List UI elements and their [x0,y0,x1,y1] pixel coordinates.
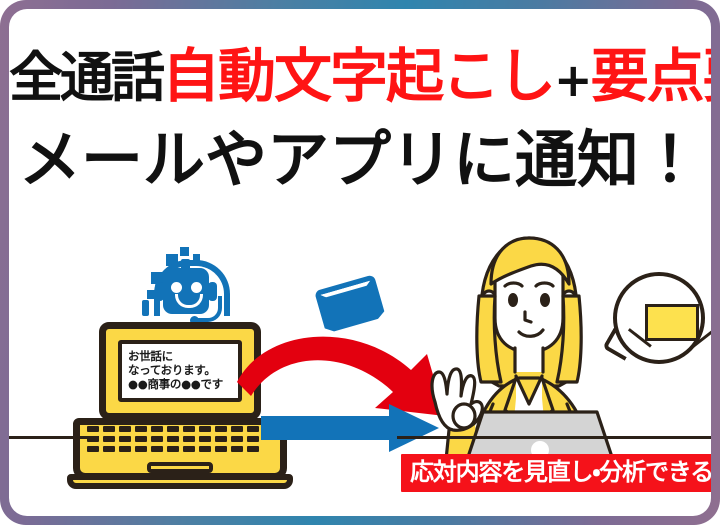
key [199,426,211,432]
neck [515,346,543,372]
headline-black-prefix: 全通話 [9,46,162,109]
key-row [87,446,273,452]
key [119,426,131,432]
key [87,446,99,452]
key [151,446,163,452]
key [87,426,99,432]
key [135,426,147,432]
key-row [87,436,273,442]
blue-arrow-shape [261,404,439,452]
key [119,436,131,442]
envelope-flap-right [675,306,711,348]
laptop-screen-transcript-text: お世話に なっております。 ●●商事の●●です [128,349,238,391]
key [119,446,131,452]
laptop-keys [87,426,273,458]
headline-red-tail: 要点要約機能 [591,42,711,110]
banner-canvas: 全通話自動文字起こし+要点要約機能 メールやアプリに通知！ [9,9,711,516]
ai-chatbot-robot-icon [133,242,229,330]
key [103,446,115,452]
key [183,426,195,432]
robot-eye-left [171,282,182,293]
key [135,446,147,452]
key [215,426,227,432]
key [247,436,259,442]
laptop-screen: お世話に なっております。 ●●商事の●●です [118,340,242,402]
envelope-flap-left [628,306,669,348]
illustration-area: お世話に なっております。 ●●商事の●●です [9,214,711,516]
eye-right [540,293,550,307]
key [167,446,179,452]
key [103,426,115,432]
key [231,436,243,442]
headline-line-2: メールやアプリに通知！ [9,129,711,191]
yellow-envelope-icon [645,304,699,341]
key [215,446,227,452]
key [183,446,195,452]
status-banner: 応対内容を見直し・分析できる！ [401,454,711,492]
desk-line-left [9,436,99,439]
key [167,426,179,432]
headset-mic-boom [196,296,222,322]
blue-right-arrow-icon [261,404,439,452]
key [247,446,259,452]
desk-line-right [397,436,711,439]
key [151,436,163,442]
key [231,446,243,452]
key [135,436,147,442]
eye-left [508,293,518,307]
key [199,446,211,452]
key [103,436,115,442]
speech-bubble-body [613,272,705,364]
key [215,436,227,442]
headline-red-main: 自動文字起こし [162,42,554,110]
robot-eye-right [191,282,202,293]
status-banner-text: 応対内容を見直し・分析できる！ [410,460,711,484]
envelope-flap-right [350,283,395,328]
headline-plus-sign: + [554,53,591,107]
speech-bubble-mail-notification [605,272,709,372]
pixel-dot [142,300,149,316]
key [167,436,179,442]
headline-line-1: 全通話自動文字起こし+要点要約機能 [9,47,711,105]
key [151,426,163,432]
key [199,436,211,442]
laptop-trackpad [147,462,213,473]
promo-banner: 全通話自動文字起こし+要点要約機能 メールやアプリに通知！ [0,0,720,525]
key [183,436,195,442]
pixel-dot [180,247,189,256]
